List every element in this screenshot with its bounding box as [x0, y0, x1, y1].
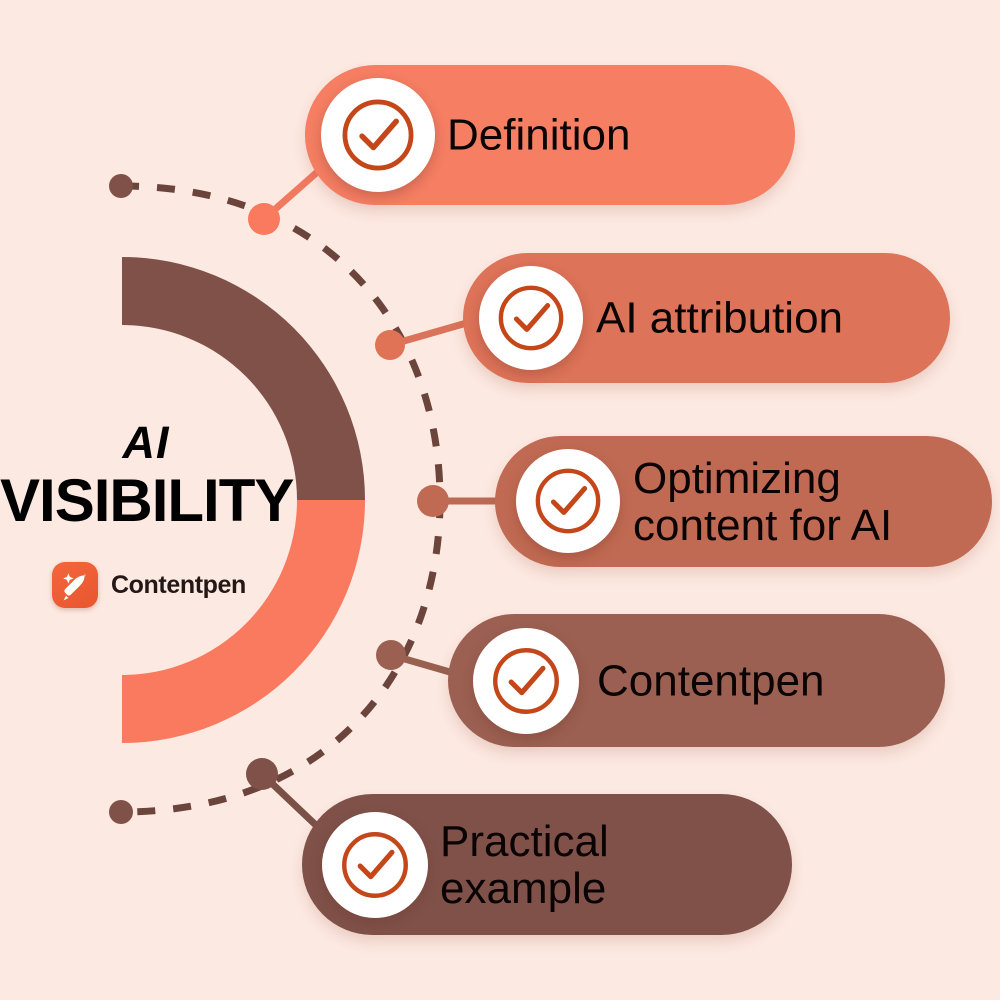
brand-lockup: Contentpen [52, 562, 246, 608]
check-badge-optimizing-content-for-ai [516, 449, 620, 553]
pill-label-ai-attribution: AI attribution [596, 294, 843, 341]
connector-node-optimizing-content-for-ai[interactable] [417, 485, 449, 517]
infographic-canvas: AI VISIBILITY Contentpen DefinitionAI at… [0, 0, 1000, 1000]
check-badge-ai-attribution [479, 266, 583, 370]
headline-line-1: AI [0, 420, 292, 465]
center-headline: AI VISIBILITY [0, 420, 292, 531]
connector-node-practical-example[interactable] [246, 758, 278, 790]
pill-label-optimizing-content-for-ai: Optimizing content for AI [633, 454, 892, 548]
pill-practical-example[interactable]: Practical example [302, 794, 792, 935]
connector-node-contentpen[interactable] [376, 640, 406, 670]
dashed-arc-bottom-endpoint [109, 800, 133, 824]
check-circle-icon [473, 628, 579, 734]
check-circle-icon [479, 266, 583, 370]
pill-definition[interactable]: Definition [305, 65, 795, 205]
contentpen-logo-icon [52, 562, 98, 608]
dashed-arc-top-endpoint [109, 174, 133, 198]
headline-line-2: VISIBILITY [0, 471, 292, 531]
check-badge-definition [321, 78, 435, 192]
connector-node-definition[interactable] [248, 203, 280, 235]
donut-segment-lower-arc [122, 500, 365, 743]
check-circle-icon [321, 78, 435, 192]
check-circle-icon [322, 812, 428, 918]
pill-label-practical-example: Practical example [440, 817, 609, 911]
pill-ai-attribution[interactable]: AI attribution [463, 253, 950, 383]
connector-node-ai-attribution[interactable] [375, 330, 405, 360]
pill-optimizing-content-for-ai[interactable]: Optimizing content for AI [495, 436, 992, 567]
brand-name: Contentpen [111, 571, 246, 600]
check-badge-practical-example [322, 812, 428, 918]
pill-contentpen[interactable]: Contentpen [448, 614, 945, 747]
check-circle-icon [516, 449, 620, 553]
pill-label-definition: Definition [447, 111, 630, 158]
pill-label-contentpen: Contentpen [597, 657, 825, 704]
check-badge-contentpen [473, 628, 579, 734]
